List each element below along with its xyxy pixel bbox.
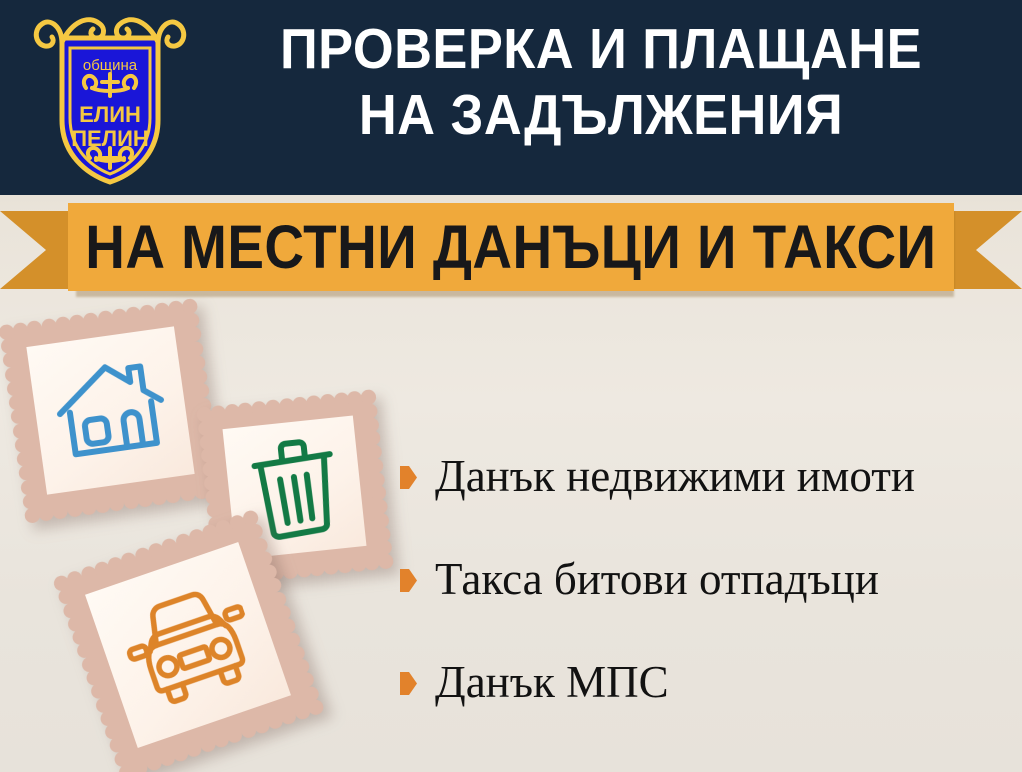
stamp-card-group xyxy=(0,300,420,770)
triangle-right-bullet-icon xyxy=(400,569,417,592)
header-bar: община ЕЛИН ПЕЛИН xyxy=(0,0,1022,195)
list-item[interactable]: Такса битови отпадъци xyxy=(400,528,1015,631)
ribbon-subtitle: НА МЕСТНИ ДАНЪЦИ И ТАКСИ xyxy=(85,217,936,278)
page-title: ПРОВЕРКА И ПЛАЩАНЕ НА ЗАДЪЛЖЕНИЯ xyxy=(228,16,973,148)
crest-text-obshtina: община xyxy=(83,57,138,74)
triangle-right-bullet-icon xyxy=(400,672,417,695)
triangle-right-bullet-icon xyxy=(400,466,417,489)
list-item-label: Такса битови отпадъци xyxy=(435,556,879,603)
list-item[interactable]: Данък недвижими имоти xyxy=(400,425,1015,528)
list-item[interactable]: Данък МПС xyxy=(400,631,1015,734)
tax-type-list: Данък недвижими имоти Такса битови отпад… xyxy=(400,425,1015,734)
crest-text-elin: ЕЛИН xyxy=(79,102,141,127)
stamp-card-house xyxy=(6,306,215,515)
house-icon xyxy=(6,306,215,515)
poster-root: община ЕЛИН ПЕЛИН xyxy=(0,0,1022,772)
list-item-label: Данък недвижими имоти xyxy=(435,453,915,500)
ribbon-banner: НА МЕСТНИ ДАНЪЦИ И ТАКСИ xyxy=(0,193,1022,305)
municipality-crest-logo: община ЕЛИН ПЕЛИН xyxy=(24,8,196,190)
list-item-label: Данък МПС xyxy=(435,659,669,706)
ribbon-band: НА МЕСТНИ ДАНЪЦИ И ТАКСИ xyxy=(68,203,954,291)
